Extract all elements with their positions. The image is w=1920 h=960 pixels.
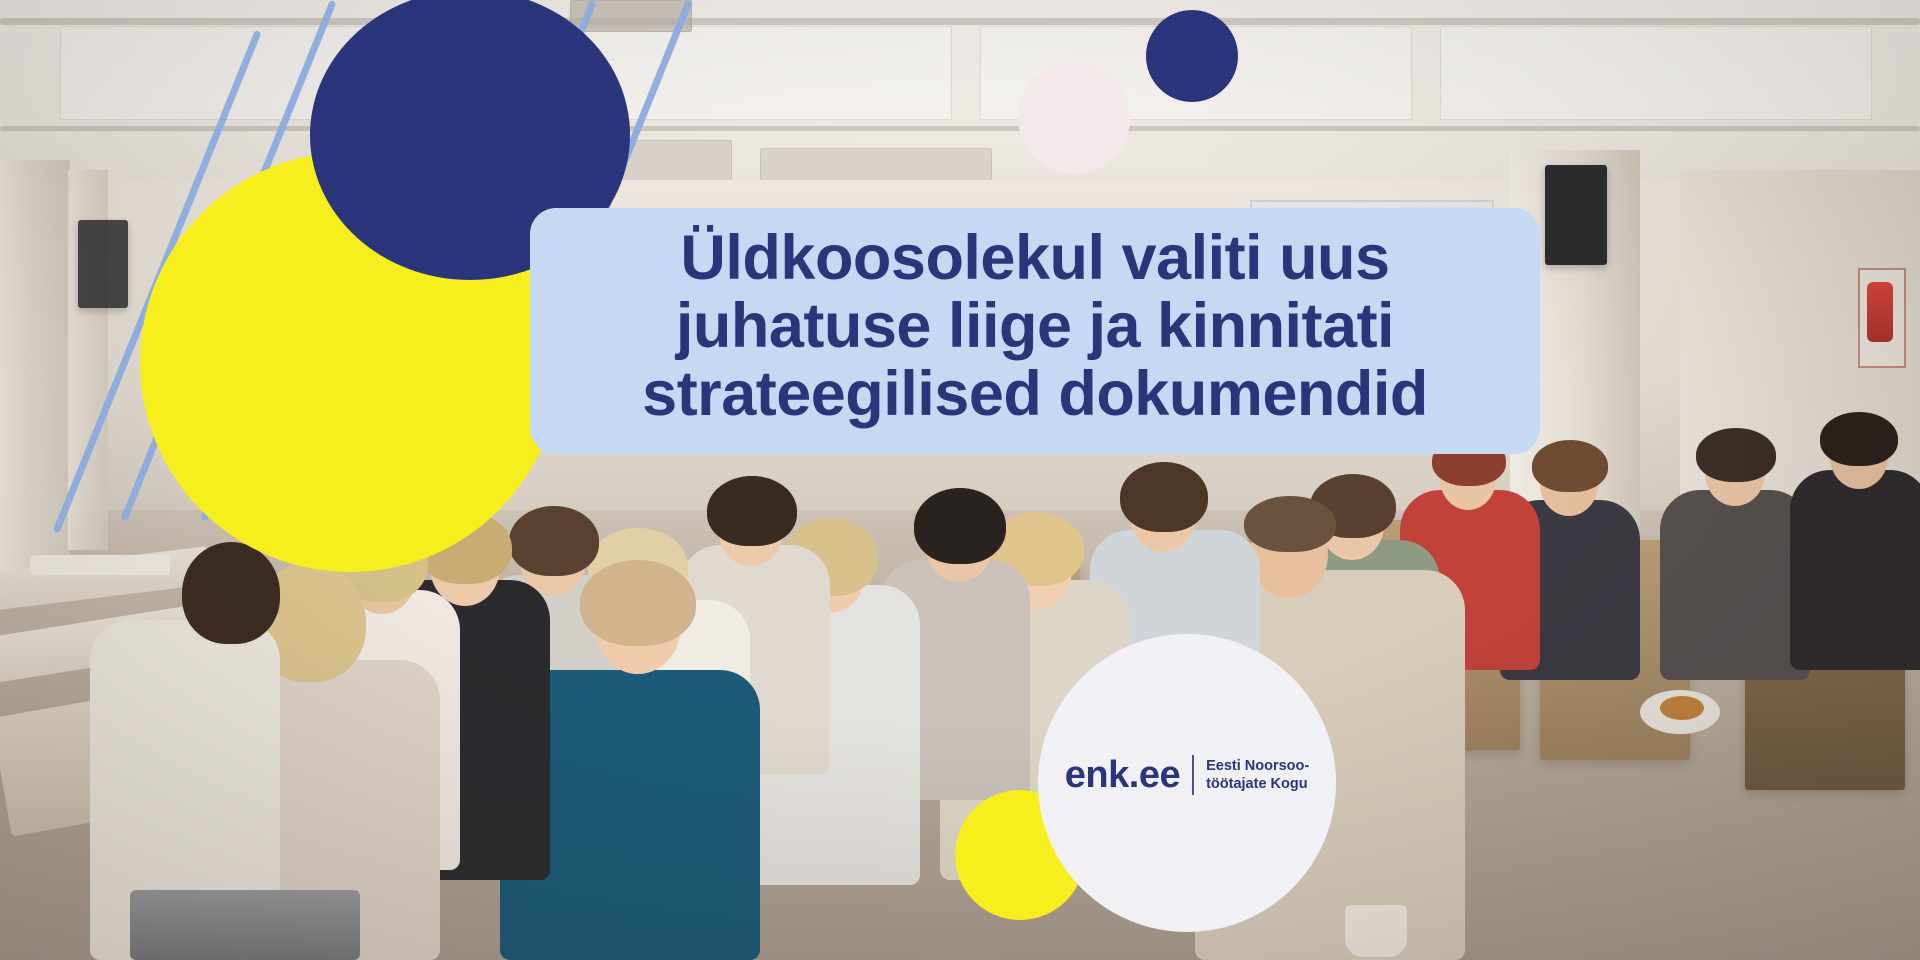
ceiling-panel — [1440, 26, 1872, 120]
ceiling-beam — [0, 18, 1920, 25]
logo-organisation-name: Eesti Noorsoo- töötajate Kogu — [1206, 757, 1309, 793]
logo-wordmark: enk.ee — [1065, 754, 1180, 797]
wall-speaker — [78, 220, 128, 308]
logo-divider — [1192, 755, 1194, 795]
wall-speaker — [1545, 165, 1607, 265]
logo-badge: enk.ee Eesti Noorsoo- töötajate Kogu — [1038, 634, 1336, 932]
banner-image: Üldkoosolekul valiti uus juhatuse liige … — [0, 0, 1920, 960]
food — [1660, 696, 1704, 720]
navy-circle-small — [1146, 10, 1238, 102]
fire-extinguisher — [1867, 282, 1893, 342]
table — [30, 555, 170, 575]
laptop — [130, 890, 360, 960]
page-title: Üldkoosolekul valiti uus juhatuse liige … — [566, 224, 1504, 428]
curtain — [0, 160, 70, 580]
title-card: Üldkoosolekul valiti uus juhatuse liige … — [530, 208, 1540, 454]
ceiling-projector — [570, 0, 692, 32]
cup — [1345, 905, 1407, 957]
white-circle — [1018, 62, 1130, 174]
ceiling-beam — [0, 126, 1920, 131]
